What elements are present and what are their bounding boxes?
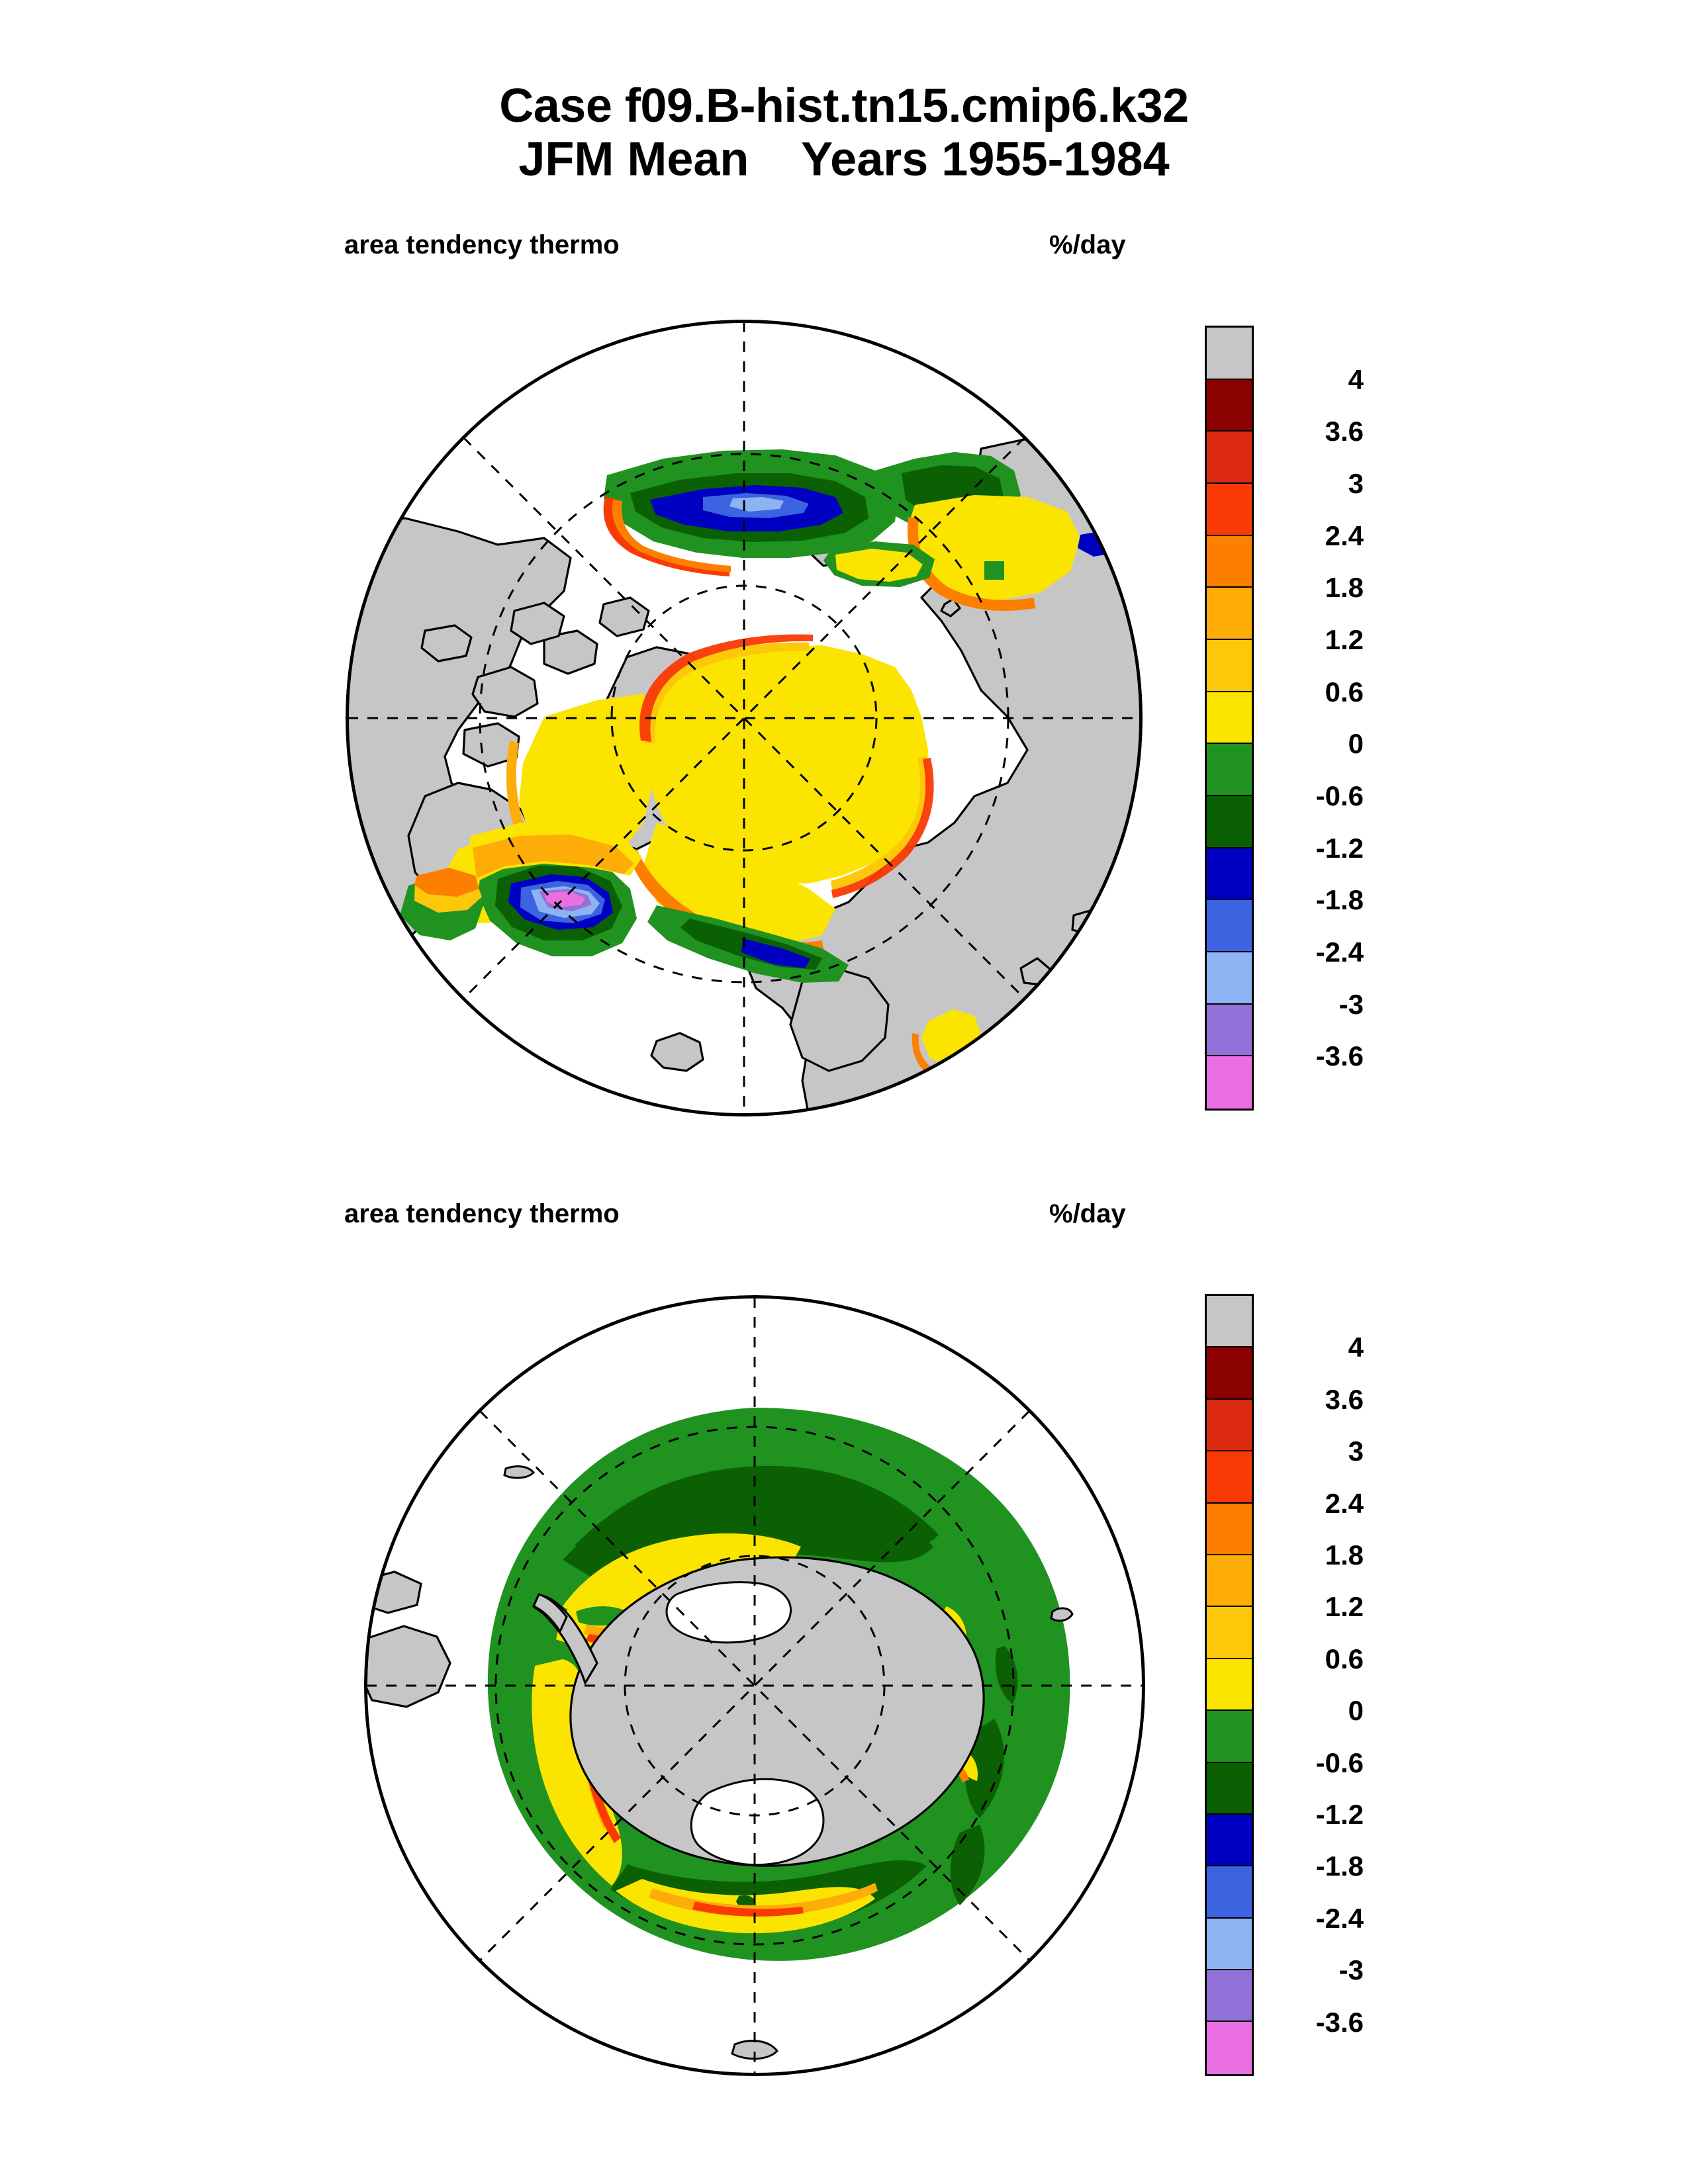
colorbar-band-5[interactable] [1207,1555,1252,1607]
colorbar-band-1[interactable] [1207,380,1252,432]
colorbar-band-4[interactable] [1207,1504,1252,1555]
colorbar-tick-0.6: 0.6 [1264,676,1364,708]
arctic-panel-labels: area tendency thermo %/day [0,230,1688,270]
colorbar-tick--2.4: -2.4 [1264,1903,1364,1934]
colorbar-band-13[interactable] [1207,1005,1252,1057]
colorbar-band-5[interactable] [1207,588,1252,640]
colorbar-band-3[interactable] [1207,484,1252,536]
colorbar-tick-4: 4 [1264,364,1364,396]
colorbar-tick--3: -3 [1264,1954,1364,1986]
colorbar-band-1[interactable] [1207,1347,1252,1399]
colorbar-band-11[interactable] [1207,900,1252,952]
arctic-map [346,320,1143,1116]
colorbar-band-13[interactable] [1207,1970,1252,2022]
colorbar-tick-1.2: 1.2 [1264,624,1364,656]
arctic-units-label: %/day [1049,230,1126,260]
colorbar-tick--1.8: -1.8 [1264,884,1364,916]
colorbar-tick--1.2: -1.2 [1264,1799,1364,1831]
antarctic-colorbar[interactable]: 43.632.41.81.20.60-0.6-1.2-1.8-2.4-3-3.6 [1205,1294,1489,2079]
colorbar-tick-3.6: 3.6 [1264,1384,1364,1416]
colorbar-band-14[interactable] [1207,2022,1252,2073]
antarctic-variable-label: area tendency thermo [344,1199,620,1229]
colorbar-tick-1.8: 1.8 [1264,572,1364,604]
colorbar-band-6[interactable] [1207,640,1252,692]
colorbar-tick-1.2: 1.2 [1264,1591,1364,1623]
antarctic-units-label: %/day [1049,1199,1126,1229]
colorbar-band-9[interactable] [1207,796,1252,848]
antarctic-colorbar-strip[interactable] [1205,1294,1254,2076]
colorbar-band-2[interactable] [1207,1400,1252,1451]
colorbar-band-6[interactable] [1207,1607,1252,1659]
colorbar-tick-0: 0 [1264,1695,1364,1727]
antarctic-map-graphic [364,1295,1145,2076]
colorbar-band-3[interactable] [1207,1451,1252,1503]
colorbar-band-8[interactable] [1207,744,1252,796]
colorbar-tick--0.6: -0.6 [1264,1747,1364,1779]
colorbar-band-10[interactable] [1207,1815,1252,1866]
arctic-colorbar-labels: 43.632.41.81.20.60-0.6-1.2-1.8-2.4-3-3.6 [1264,326,1397,1111]
colorbar-tick--0.6: -0.6 [1264,780,1364,812]
colorbar-band-2[interactable] [1207,432,1252,484]
antarctic-panel-labels: area tendency thermo %/day [0,1199,1688,1239]
figure-page: Case f09.B-hist.tn15.cmip6.k32 JFM Mean … [0,0,1688,2184]
colorbar-tick-1.8: 1.8 [1264,1539,1364,1571]
figure-title-block: Case f09.B-hist.tn15.cmip6.k32 JFM Mean … [0,79,1688,186]
colorbar-band-11[interactable] [1207,1866,1252,1918]
colorbar-band-9[interactable] [1207,1763,1252,1815]
colorbar-tick-3.6: 3.6 [1264,416,1364,447]
colorbar-tick-2.4: 2.4 [1264,520,1364,552]
antarctic-map [364,1295,1145,2076]
colorbar-tick--2.4: -2.4 [1264,936,1364,968]
colorbar-tick--3: -3 [1264,989,1364,1021]
colorbar-band-7[interactable] [1207,1659,1252,1711]
colorbar-tick-2.4: 2.4 [1264,1488,1364,1520]
colorbar-band-12[interactable] [1207,952,1252,1005]
colorbar-band-7[interactable] [1207,692,1252,745]
colorbar-band-0[interactable] [1207,1296,1252,1347]
colorbar-band-8[interactable] [1207,1711,1252,1762]
title-line-period: JFM Mean Years 1955-1984 [0,133,1688,187]
antarctic-colorbar-labels: 43.632.41.81.20.60-0.6-1.2-1.8-2.4-3-3.6 [1264,1294,1397,2076]
colorbar-tick-3: 3 [1264,1435,1364,1467]
colorbar-band-14[interactable] [1207,1056,1252,1109]
colorbar-tick--3.6: -3.6 [1264,1040,1364,1072]
colorbar-tick-0.6: 0.6 [1264,1643,1364,1675]
colorbar-band-0[interactable] [1207,328,1252,380]
colorbar-tick--1.8: -1.8 [1264,1850,1364,1882]
colorbar-tick--1.2: -1.2 [1264,833,1364,864]
colorbar-tick--3.6: -3.6 [1264,2007,1364,2038]
colorbar-tick-3: 3 [1264,468,1364,500]
arctic-colorbar-strip[interactable] [1205,326,1254,1111]
arctic-colorbar[interactable]: 43.632.41.81.20.60-0.6-1.2-1.8-2.4-3-3.6 [1205,326,1489,1113]
arctic-map-graphic [346,320,1143,1116]
colorbar-tick-4: 4 [1264,1332,1364,1363]
colorbar-band-4[interactable] [1207,536,1252,588]
arctic-variable-label: area tendency thermo [344,230,620,260]
title-line-case: Case f09.B-hist.tn15.cmip6.k32 [0,79,1688,133]
colorbar-tick-0: 0 [1264,728,1364,760]
colorbar-band-12[interactable] [1207,1919,1252,1970]
colorbar-band-10[interactable] [1207,848,1252,901]
